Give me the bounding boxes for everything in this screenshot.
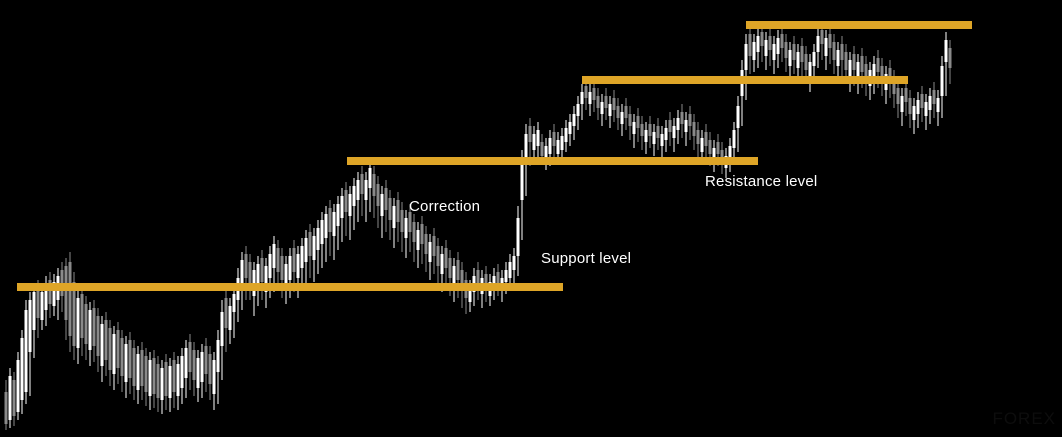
support-level-label: Support level	[541, 251, 631, 267]
resistance-zone-3[interactable]	[746, 21, 972, 29]
resistance-zone-1[interactable]	[347, 157, 758, 165]
resistance-zone-2[interactable]	[582, 76, 908, 84]
candlestick-series	[0, 0, 1062, 437]
resistance-level-label: Resistance level	[705, 174, 817, 190]
price-chart[interactable]: Correction Support level Resistance leve…	[0, 0, 1062, 437]
watermark: FOREX	[992, 409, 1056, 429]
support-zone-1[interactable]	[17, 283, 563, 291]
correction-label: Correction	[409, 199, 480, 215]
